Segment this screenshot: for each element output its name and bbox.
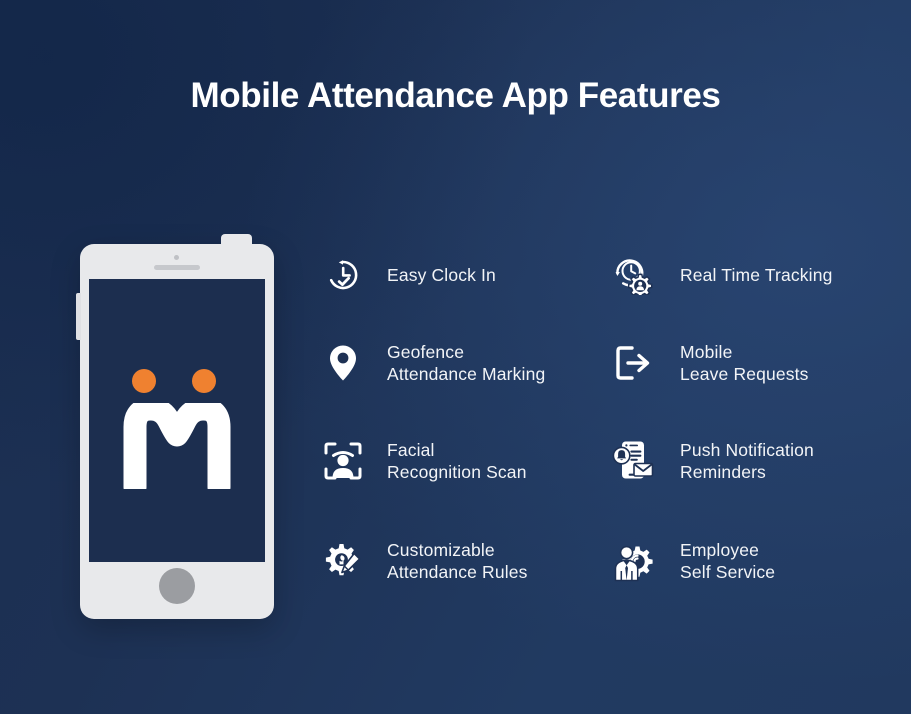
phone-mockup <box>80 244 274 619</box>
feature-item-geofence-attendance-marking[interactable]: Geofence Attendance Marking <box>320 339 595 387</box>
poster-canvas: Mobile Attendance App Features <box>0 0 911 714</box>
clock-gear-user-icon <box>610 252 656 298</box>
feature-label: Push Notification Reminders <box>680 439 814 483</box>
feature-item-customizable-attendance-rules[interactable]: Customizable Attendance Rules <box>320 536 595 586</box>
feature-label: Employee Self Service <box>680 539 775 583</box>
employee-gear-icon <box>610 538 656 584</box>
logo-dot-right <box>192 369 216 393</box>
m-logo <box>123 369 231 489</box>
feature-label: Customizable Attendance Rules <box>387 539 528 583</box>
clock-refresh-check-icon <box>320 252 366 298</box>
feature-label: Facial Recognition Scan <box>387 439 527 483</box>
phone-top-nub <box>221 234 252 248</box>
phone-home-button[interactable] <box>159 568 195 604</box>
face-scan-icon <box>320 438 366 484</box>
exit-arrow-icon <box>610 340 656 386</box>
phone-bell-envelope-icon <box>610 438 656 484</box>
page-title: Mobile Attendance App Features <box>0 72 911 120</box>
phone-camera-icon <box>174 255 179 260</box>
logo-dot-left <box>132 369 156 393</box>
phone-speaker-grille <box>154 265 200 270</box>
phone-side-button[interactable] <box>76 293 81 340</box>
feature-item-employee-self-service[interactable]: Employee Self Service <box>610 536 900 586</box>
feature-item-easy-clock-in[interactable]: Easy Clock In <box>320 252 595 298</box>
feature-label: Real Time Tracking <box>680 264 832 286</box>
feature-item-real-time-tracking[interactable]: Real Time Tracking <box>610 252 900 298</box>
feature-label: Geofence Attendance Marking <box>387 341 545 385</box>
feature-item-mobile-leave-requests[interactable]: Mobile Leave Requests <box>610 339 900 387</box>
logo-m-mark <box>123 403 231 489</box>
phone-body <box>80 244 274 619</box>
phone-screen <box>89 279 265 562</box>
gear-pencil-icon <box>320 538 366 584</box>
feature-item-push-notification-reminders[interactable]: Push Notification Reminders <box>610 437 900 485</box>
feature-label: Mobile Leave Requests <box>680 341 809 385</box>
feature-label: Easy Clock In <box>387 264 496 286</box>
feature-item-facial-recognition-scan[interactable]: Facial Recognition Scan <box>320 437 595 485</box>
map-pin-icon <box>320 340 366 386</box>
